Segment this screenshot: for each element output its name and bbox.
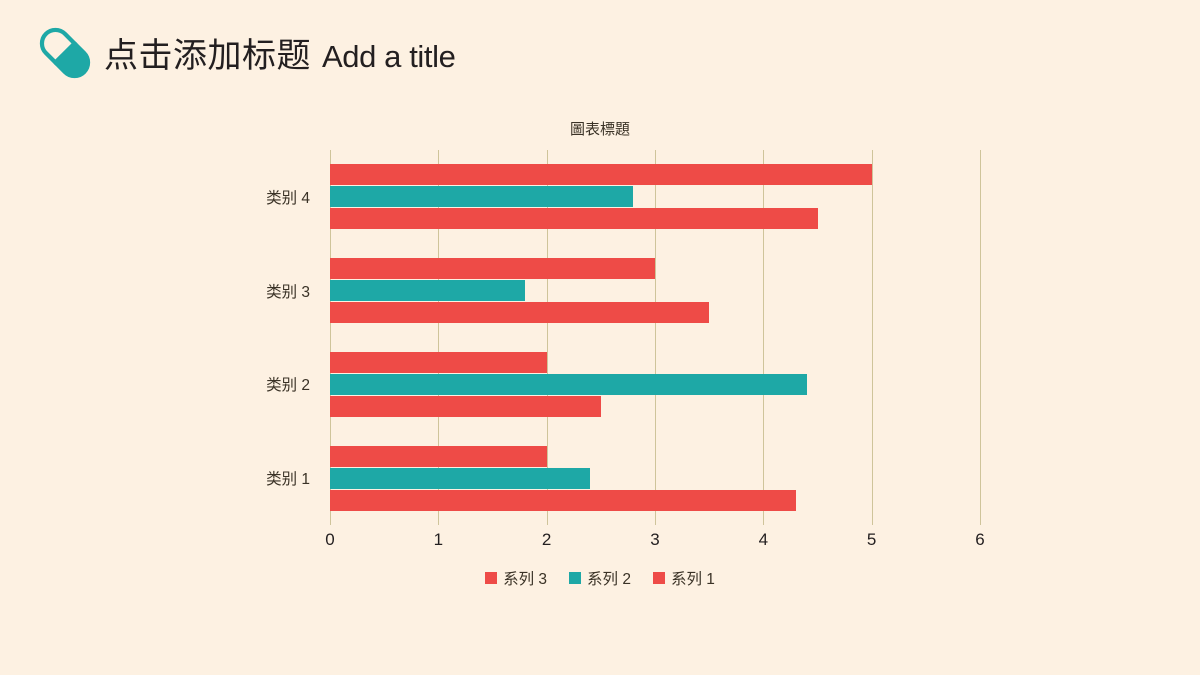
legend-item[interactable]: 系列 3 [485, 567, 547, 589]
bar-chart: 圖表標題 类别 1类别 2类别 3类别 4 0123456 系列 3系列 2系列… [0, 105, 1200, 615]
gridline [655, 150, 656, 525]
category-label: 类别 1 [110, 467, 310, 489]
plot-area [330, 150, 980, 525]
bar-类别2-系列1 [330, 396, 601, 417]
chart-title: 圖表標題 [0, 118, 1200, 139]
category-axis-labels: 类别 1类别 2类别 3类别 4 [110, 150, 310, 525]
value-tick-label: 1 [418, 530, 458, 550]
category-label: 类别 3 [110, 280, 310, 302]
legend-swatch-icon [485, 572, 497, 584]
value-axis-tick-labels: 0123456 [330, 530, 980, 560]
legend-label: 系列 2 [587, 567, 631, 589]
bar-类别1-系列2 [330, 468, 590, 489]
value-tick-label: 2 [527, 530, 567, 550]
legend-swatch-icon [653, 572, 665, 584]
legend-label: 系列 3 [503, 567, 547, 589]
value-tick-label: 0 [310, 530, 350, 550]
category-label: 类别 4 [110, 186, 310, 208]
value-tick-label: 4 [743, 530, 783, 550]
capsule-pill-icon [28, 16, 102, 90]
gridline [763, 150, 764, 525]
gridline [980, 150, 981, 525]
page-title-cn: 点击添加标题 [104, 39, 311, 73]
value-tick-label: 6 [960, 530, 1000, 550]
page-title-en: Add a title [322, 41, 455, 72]
bar-类别4-系列3 [330, 164, 872, 185]
bar-类别1-系列1 [330, 490, 796, 511]
legend-item[interactable]: 系列 2 [569, 567, 631, 589]
category-label: 类别 2 [110, 373, 310, 395]
bar-类别1-系列3 [330, 446, 547, 467]
legend-swatch-icon [569, 572, 581, 584]
bar-类别3-系列3 [330, 258, 655, 279]
bar-类别2-系列3 [330, 352, 547, 373]
value-tick-label: 3 [635, 530, 675, 550]
bar-类别4-系列2 [330, 186, 633, 207]
slide-header: 点击添加标题 Add a title [0, 0, 1200, 105]
page-title: 点击添加标题 Add a title [104, 39, 455, 73]
bar-类别2-系列2 [330, 374, 807, 395]
bar-类别4-系列1 [330, 208, 818, 229]
legend-item[interactable]: 系列 1 [653, 567, 715, 589]
chart-legend: 系列 3系列 2系列 1 [0, 567, 1200, 589]
bar-类别3-系列1 [330, 302, 709, 323]
bar-类别3-系列2 [330, 280, 525, 301]
gridline [872, 150, 873, 525]
value-tick-label: 5 [852, 530, 892, 550]
legend-label: 系列 1 [671, 567, 715, 589]
